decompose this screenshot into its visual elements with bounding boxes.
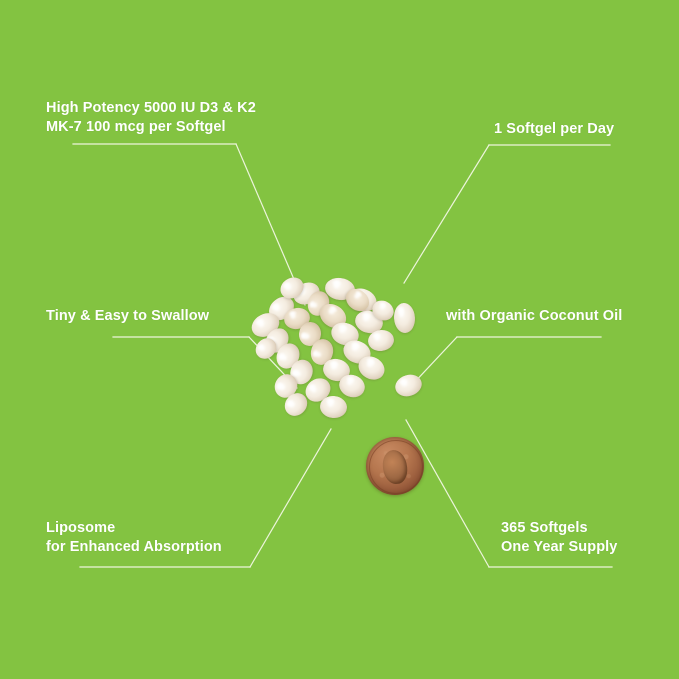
callout-high-potency: High Potency 5000 IU D3 & K2 MK-7 100 mc… <box>46 99 256 137</box>
softgel-capsule <box>318 395 347 420</box>
callout-year-supply: 365 Softgels One Year Supply <box>501 519 617 557</box>
softgel-capsule <box>270 370 301 402</box>
callout-year-supply-line2: One Year Supply <box>501 538 617 557</box>
softgel-capsule <box>304 288 332 319</box>
callout-high-potency-line1: High Potency 5000 IU D3 & K2 <box>46 100 256 116</box>
penny-scale-reference <box>366 437 424 495</box>
softgel-capsule <box>286 356 316 387</box>
softgel-capsule <box>315 299 351 333</box>
softgel-capsule <box>369 296 398 323</box>
softgel-capsule <box>261 323 294 356</box>
softgel-capsule <box>353 308 385 336</box>
callout-tiny-easy-swallow: Tiny & Easy to Swallow <box>46 307 209 326</box>
leader-line-coconut-diagonal <box>411 337 457 386</box>
softgel-capsule <box>392 302 415 333</box>
product-feature-image: High Potency 5000 IU D3 & K2 MK-7 100 mc… <box>0 0 679 679</box>
softgel-capsule <box>308 336 336 367</box>
leader-line-supply-diagonal <box>406 420 489 567</box>
leader-line-perday-diagonal <box>404 145 489 283</box>
callout-one-softgel-per-day: 1 Softgel per Day <box>494 120 614 139</box>
softgel-capsule <box>344 284 379 315</box>
softgel-capsule <box>247 308 283 341</box>
softgel-capsule <box>277 273 308 302</box>
callout-one-softgel-per-day-line1: 1 Softgel per Day <box>494 121 614 137</box>
softgel-capsule <box>340 336 375 367</box>
callout-organic-coconut-oil: with Organic Coconut Oil <box>446 307 622 326</box>
softgel-capsule <box>280 388 312 420</box>
callout-high-potency-line2: MK-7 100 mcg per Softgel <box>46 118 256 137</box>
leader-line-liposome-diagonal <box>250 429 331 567</box>
softgel-capsule <box>341 284 373 315</box>
callout-liposome-absorption-line1: Liposome <box>46 520 115 536</box>
softgel-capsule <box>251 334 280 363</box>
softgel-capsule <box>354 352 388 384</box>
softgel-capsule <box>264 291 298 324</box>
softgel-capsule <box>301 374 335 407</box>
callout-liposome-absorption-line2: for Enhanced Absorption <box>46 538 222 557</box>
softgel-capsule <box>297 320 324 348</box>
softgel-capsule <box>321 356 352 383</box>
softgel-capsule <box>272 339 304 372</box>
callout-year-supply-line1: 365 Softgels <box>501 520 588 536</box>
softgel-capsule <box>290 278 323 308</box>
callout-liposome-absorption: Liposome for Enhanced Absorption <box>46 519 222 557</box>
softgel-capsule <box>282 305 312 331</box>
softgel-capsule <box>324 276 357 302</box>
callout-organic-coconut-oil-line1: with Organic Coconut Oil <box>446 308 622 324</box>
softgel-capsule <box>392 371 424 399</box>
softgel-capsule <box>328 319 361 349</box>
callout-tiny-easy-swallow-line1: Tiny & Easy to Swallow <box>46 308 209 324</box>
softgel-capsule <box>336 371 368 401</box>
leader-line-potency-diagonal <box>236 144 305 305</box>
leader-line-tiny-diagonal <box>249 337 297 388</box>
penny-rim <box>369 440 423 494</box>
softgel-capsule <box>367 328 396 352</box>
